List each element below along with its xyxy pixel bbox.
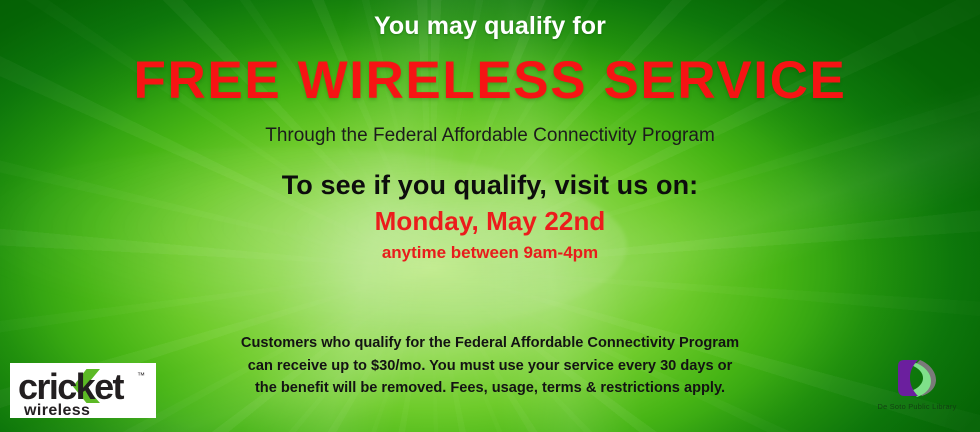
cricket-wireless-logo-mark: cricket ™ wireless — [10, 363, 156, 418]
visit-instruction-text: To see if you qualify, visit us on: — [0, 170, 980, 201]
cricket-tagline-text: wireless — [23, 402, 90, 418]
event-hours-text: anytime between 9am-4pm — [0, 243, 980, 263]
cricket-wireless-logo: cricket ™ wireless — [10, 363, 156, 418]
cricket-wordmark-text: cricket — [18, 366, 124, 407]
fineprint-disclaimer-text: Customers who qualify for the Federal Af… — [240, 332, 740, 400]
promo-banner: You may qualify for FREE WIRELESS SERVIC… — [0, 0, 980, 432]
cricket-trademark-symbol: ™ — [137, 371, 145, 380]
library-name-text: De Soto Public Library — [862, 402, 972, 411]
subheadline-text: Through the Federal Affordable Connectiv… — [0, 125, 980, 147]
headline-text: FREE WIRELESS SERVICE — [0, 53, 980, 109]
library-book-icon — [886, 356, 948, 400]
eyebrow-text: You may qualify for — [0, 12, 980, 41]
event-date-text: Monday, May 22nd — [0, 206, 980, 237]
de-soto-public-library-logo: De Soto Public Library — [862, 356, 972, 424]
